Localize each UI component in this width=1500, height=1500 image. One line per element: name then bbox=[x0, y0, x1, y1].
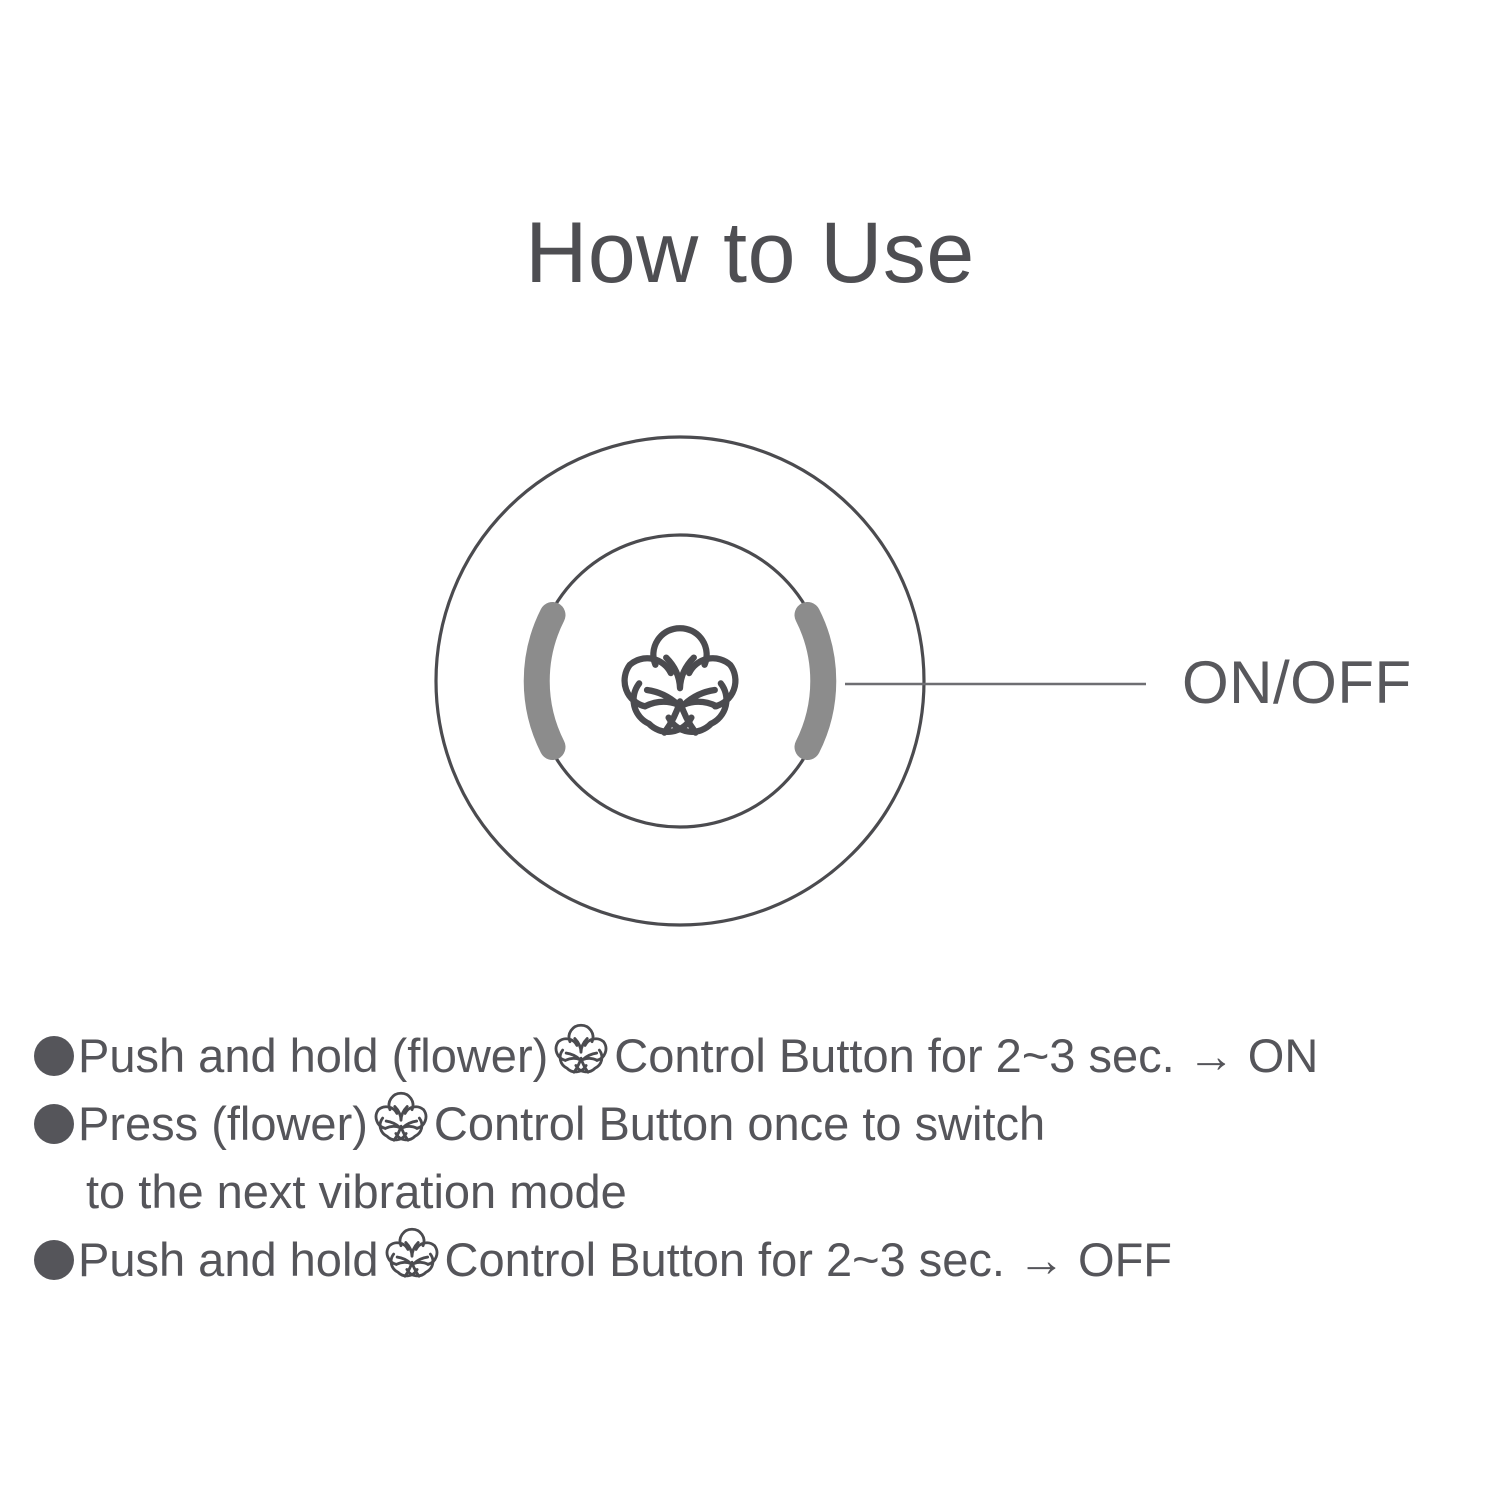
instruction-text-after: Control Button once to switch bbox=[434, 1090, 1045, 1158]
page-title: How to Use bbox=[0, 206, 1500, 301]
bullet-dot-icon bbox=[34, 1036, 74, 1076]
onoff-callout-label: ON/OFF bbox=[1182, 648, 1412, 717]
instruction-line-continuation: to the next vibration mode bbox=[34, 1158, 1474, 1226]
instruction-line: Push and hold Control Button for 2~3 sec… bbox=[34, 1226, 1474, 1294]
bullet-dot-icon bbox=[34, 1240, 74, 1280]
instruction-text-before: to the next vibration mode bbox=[86, 1158, 627, 1226]
instruction-line: Push and hold (flower) Control Button fo… bbox=[34, 1022, 1474, 1090]
instruction-text-after: Control Button for 2~3 sec. → OFF bbox=[445, 1226, 1173, 1294]
instruction-text-after: Control Button for 2~3 sec. → ON bbox=[614, 1022, 1318, 1090]
instructions-list: Push and hold (flower) Control Button fo… bbox=[34, 1022, 1474, 1294]
flower-icon bbox=[554, 1022, 608, 1076]
instruction-line: Press (flower) Control Button once to sw… bbox=[34, 1090, 1474, 1158]
left-grip-arc bbox=[537, 615, 553, 747]
flower-control-button-icon[interactable] bbox=[625, 628, 736, 732]
instruction-text-before: Push and hold bbox=[78, 1226, 379, 1294]
bullet-dot-icon bbox=[34, 1104, 74, 1144]
right-grip-arc bbox=[808, 615, 824, 747]
flower-icon bbox=[385, 1226, 439, 1280]
instruction-text-before: Press (flower) bbox=[78, 1090, 368, 1158]
instruction-text-before: Push and hold (flower) bbox=[78, 1022, 548, 1090]
flower-icon bbox=[374, 1090, 428, 1144]
